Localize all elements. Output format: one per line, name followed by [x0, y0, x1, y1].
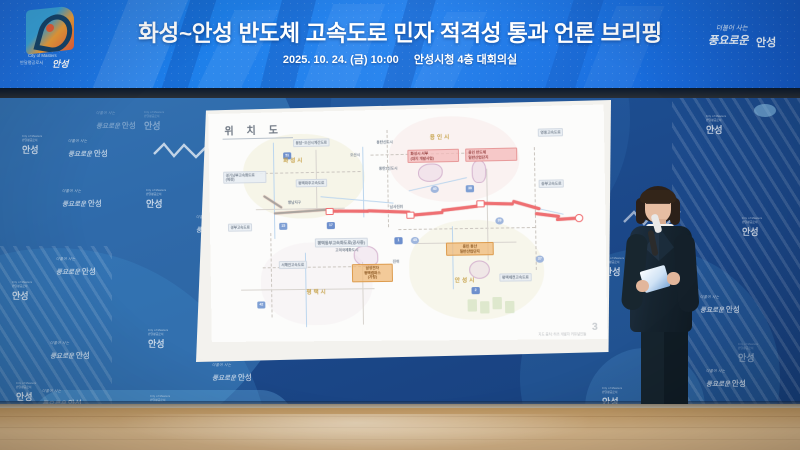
- eyeglasses-icon: [646, 203, 670, 209]
- interchange-terminus: [575, 214, 584, 222]
- backdrop-brand-mark: City of Masters 반달평공로서 안성: [706, 116, 726, 137]
- highlight-label: 삼성전자평택캠퍼스(가칭): [352, 264, 393, 282]
- highway-shield: 42: [257, 301, 265, 308]
- projection-screen: 위 치 도: [196, 100, 611, 362]
- banner-venue: 안성시청 4층 대회의실: [414, 54, 517, 66]
- green-area: [480, 301, 490, 313]
- interchange-marker: [325, 208, 333, 215]
- backdrop-brand-mark: City of Masters 반달평공로서 안성: [12, 282, 32, 303]
- highway-shield: 37: [536, 256, 544, 263]
- road-label: 경부고속도로: [228, 223, 253, 231]
- highway-shield: 1: [394, 237, 402, 244]
- backdrop-brand-mark: City of Masters 반달평공로서 안성: [742, 218, 762, 239]
- press-briefing-photo: City of Masters 반달평공로서 안성 City of Master…: [0, 0, 800, 450]
- highway-shield: 45: [411, 237, 419, 244]
- banner-title: 화성~안성 반도체 고속도로 민자 적격성 통과 언론 브리핑: [0, 16, 800, 48]
- route-segment: [329, 210, 370, 213]
- highlight-label: 화성시 서부(대지 개발사업): [407, 149, 459, 163]
- floor-reflection: [120, 414, 590, 450]
- backdrop-brand-mark: City of Masters 반달평공로서 안성: [738, 344, 758, 365]
- slogan-line-3: 안성: [756, 34, 776, 50]
- road-label: 평택동부고속화도로(공사중): [315, 238, 368, 248]
- backdrop-blob: [754, 104, 776, 117]
- place-label: 오산시: [350, 153, 360, 158]
- speaker-hand: [636, 280, 649, 292]
- highway-shield: 38: [466, 185, 474, 192]
- interchange-marker: [406, 212, 414, 219]
- speaker: [612, 186, 720, 426]
- backdrop-brand-mark: City of Masters 반달평공로서 안성: [146, 190, 166, 211]
- banner-bottom-edge: [0, 88, 800, 98]
- place-label: 향남지구: [288, 200, 301, 205]
- place-label: 남사진위: [390, 205, 403, 210]
- backdrop-brand-mark: City of Masters 반달평공로서 안성: [22, 136, 42, 157]
- slogan-line-1: 더불어 사는: [716, 22, 748, 32]
- stage-banner: City of Masters 반달평공로서 안성 화성~안성 반도체 고속도로…: [0, 0, 800, 88]
- banner-subtitle: 2025. 10. 24. (금) 10:00 안성시청 4층 대회의실: [0, 51, 800, 67]
- road-label: 중부고속도로: [539, 179, 565, 188]
- district-outline: [472, 160, 487, 183]
- slogan-line-2: 풍요로운: [708, 32, 748, 48]
- backdrop-slogan-mark: 더불어 사는 풍요로운안성: [50, 342, 90, 363]
- highlight-label: 용인 반도체일반산업단지: [465, 147, 517, 161]
- road-label: 경기남부고속화도로(예정): [223, 171, 266, 184]
- region-label: 화성시: [283, 156, 304, 164]
- highlight-label: 용인 동산일반산업단지: [446, 242, 494, 256]
- banner-date: 2025. 10. 24. (금) 10:00: [283, 54, 399, 66]
- road-label: 영동고속도로: [538, 128, 564, 137]
- highway-shield: 2: [471, 287, 479, 294]
- highway-shield: 17: [327, 222, 335, 229]
- banner-slogan: 더불어 사는 풍요로운 안성: [702, 22, 790, 58]
- road-label: 봉담~오산시계간도로: [293, 138, 330, 147]
- road-label: 서해안고속도로: [279, 261, 307, 269]
- backdrop-brand-mark: City of Masters 반달평공로서 안성: [144, 112, 164, 133]
- highway-shield: 15: [279, 223, 287, 230]
- place-label: 동탄2신도시: [379, 166, 398, 171]
- backdrop-slogan-mark: 더불어 사는 풍요로운안성: [62, 190, 102, 211]
- road-label: 평택제천고속도로: [499, 273, 531, 282]
- slide-page-number: 3: [592, 322, 598, 333]
- slide-title: 위 치 도: [224, 121, 283, 137]
- presentation-slide: 위 치 도: [208, 104, 607, 342]
- backdrop-slogan-mark: 더불어 사는 풍요로운안성: [56, 258, 96, 279]
- green-area: [505, 301, 515, 313]
- backdrop-slogan-mark: 더불어 사는 풍요로운안성: [68, 140, 108, 161]
- speaker-leg: [664, 326, 688, 414]
- speaker-hand: [667, 272, 680, 285]
- slide-source-note: 지도 출처: 하츠 개발자 커뮤널인들: [538, 331, 586, 337]
- backdrop-slogan-mark: 더불어 사는 풍요로운안성: [96, 112, 136, 133]
- backdrop-slogan-mark: 더불어 사는 풍요로운안성: [212, 364, 252, 385]
- road-label: 평택파주고속도로: [296, 179, 327, 188]
- speaker-leg: [641, 326, 664, 414]
- region-label: 용인시: [430, 133, 452, 142]
- backdrop-brand-mark: City of Masters 반달평공로서 안성: [148, 330, 168, 351]
- place-label: 진위: [393, 259, 400, 264]
- speaker-hair-fringe: [640, 190, 676, 203]
- region-label: 안성시: [455, 276, 477, 284]
- green-area: [468, 299, 478, 311]
- place-label: 동탄신도시: [376, 140, 393, 145]
- region-label: 평택시: [306, 288, 327, 296]
- place-label: 고덕국제화도시: [335, 248, 358, 253]
- green-area: [492, 297, 502, 309]
- interchange-marker: [476, 200, 484, 207]
